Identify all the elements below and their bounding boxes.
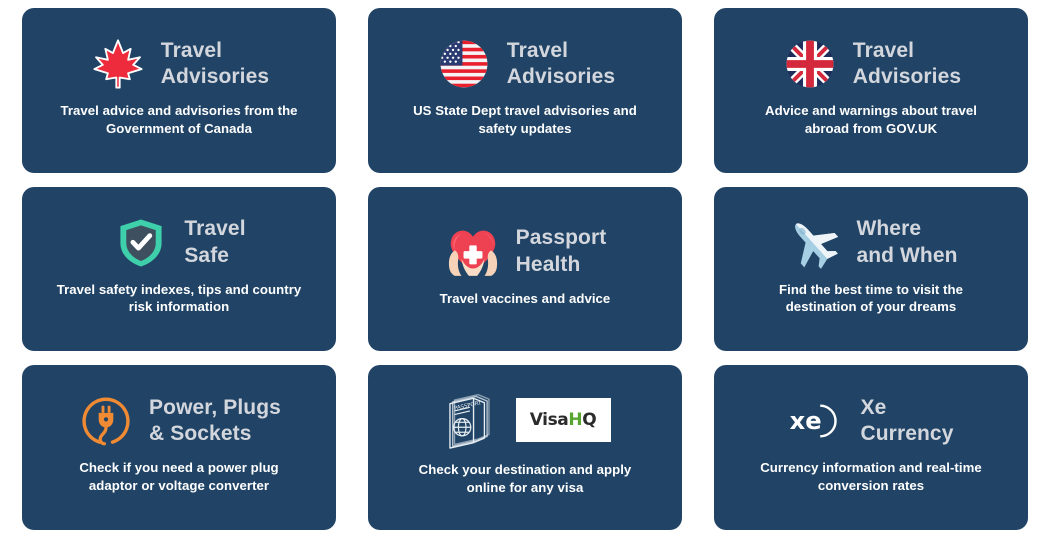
power-plug-circle-icon	[77, 392, 135, 450]
card-description: Travel safety indexes, tips and country …	[54, 281, 304, 317]
hands-holding-heart-cross-icon	[444, 223, 502, 281]
card-visa-hq[interactable]: PASSPORT VisaHQ Check your destination a…	[368, 365, 682, 530]
card-description: Find the best time to visit the destinat…	[746, 281, 996, 317]
card-title: Travel Advisories	[161, 38, 269, 91]
card-title: Travel Safe	[184, 216, 245, 269]
visahq-logo-h: H	[568, 410, 582, 430]
card-header: Travel Safe	[112, 214, 245, 272]
card-xe-currency[interactable]: xe Xe Currency Currency information and …	[714, 365, 1028, 530]
card-description: US State Dept travel advisories and safe…	[400, 102, 650, 138]
card-title: Passport Health	[516, 225, 607, 278]
shield-check-icon	[112, 214, 170, 272]
card-description: Travel advice and advisories from the Go…	[54, 102, 304, 138]
card-where-and-when[interactable]: Where and When Find the best time to vis…	[714, 187, 1028, 352]
visahq-logo-q: Q	[582, 410, 596, 430]
card-header: Travel Advisories	[435, 35, 615, 93]
uk-flag-circle-icon	[781, 35, 839, 93]
card-header: Passport Health	[444, 223, 607, 281]
card-travel-advisories-us[interactable]: Travel Advisories US State Dept travel a…	[368, 8, 682, 173]
card-description: Travel vaccines and advice	[440, 290, 611, 308]
card-title: Xe Currency	[860, 395, 953, 448]
card-description: Advice and warnings about travel abroad …	[746, 102, 996, 138]
card-description: Currency information and real-time conve…	[746, 459, 996, 495]
card-passport-health[interactable]: Passport Health Travel vaccines and advi…	[368, 187, 682, 352]
card-title: Travel Advisories	[507, 38, 615, 91]
card-header: xe Xe Currency	[788, 392, 953, 450]
card-travel-advisories-uk[interactable]: Travel Advisories Advice and warnings ab…	[714, 8, 1028, 173]
passport-book-icon: PASSPORT	[440, 391, 498, 449]
card-description: Check if you need a power plug adaptor o…	[54, 459, 304, 495]
card-power-plugs-sockets[interactable]: Power, Plugs & Sockets Check if you need…	[22, 365, 336, 530]
us-flag-circle-icon	[435, 35, 493, 93]
card-header: Travel Advisories	[781, 35, 961, 93]
svg-text:xe: xe	[790, 407, 822, 435]
card-header: PASSPORT VisaHQ	[440, 391, 611, 449]
card-description: Check your destination and apply online …	[400, 461, 650, 497]
card-travel-advisories-canada[interactable]: Travel Advisories Travel advice and advi…	[22, 8, 336, 173]
xe-logo-icon: xe	[788, 392, 846, 450]
visahq-logo-text: VisaHQ	[530, 410, 597, 430]
card-title: Power, Plugs & Sockets	[149, 395, 281, 448]
card-title: Where and When	[856, 216, 957, 269]
card-header: Where and When	[784, 214, 957, 272]
card-header: Travel Advisories	[89, 35, 269, 93]
airplane-icon	[784, 214, 842, 272]
link-card-grid: Travel Advisories Travel advice and advi…	[0, 0, 1050, 544]
card-travel-safe[interactable]: Travel Safe Travel safety indexes, tips …	[22, 187, 336, 352]
visahq-logo: VisaHQ	[516, 398, 611, 442]
card-title: Travel Advisories	[853, 38, 961, 91]
card-header: Power, Plugs & Sockets	[77, 392, 281, 450]
canada-maple-leaf-icon	[89, 35, 147, 93]
visahq-logo-visa: Visa	[530, 410, 569, 430]
